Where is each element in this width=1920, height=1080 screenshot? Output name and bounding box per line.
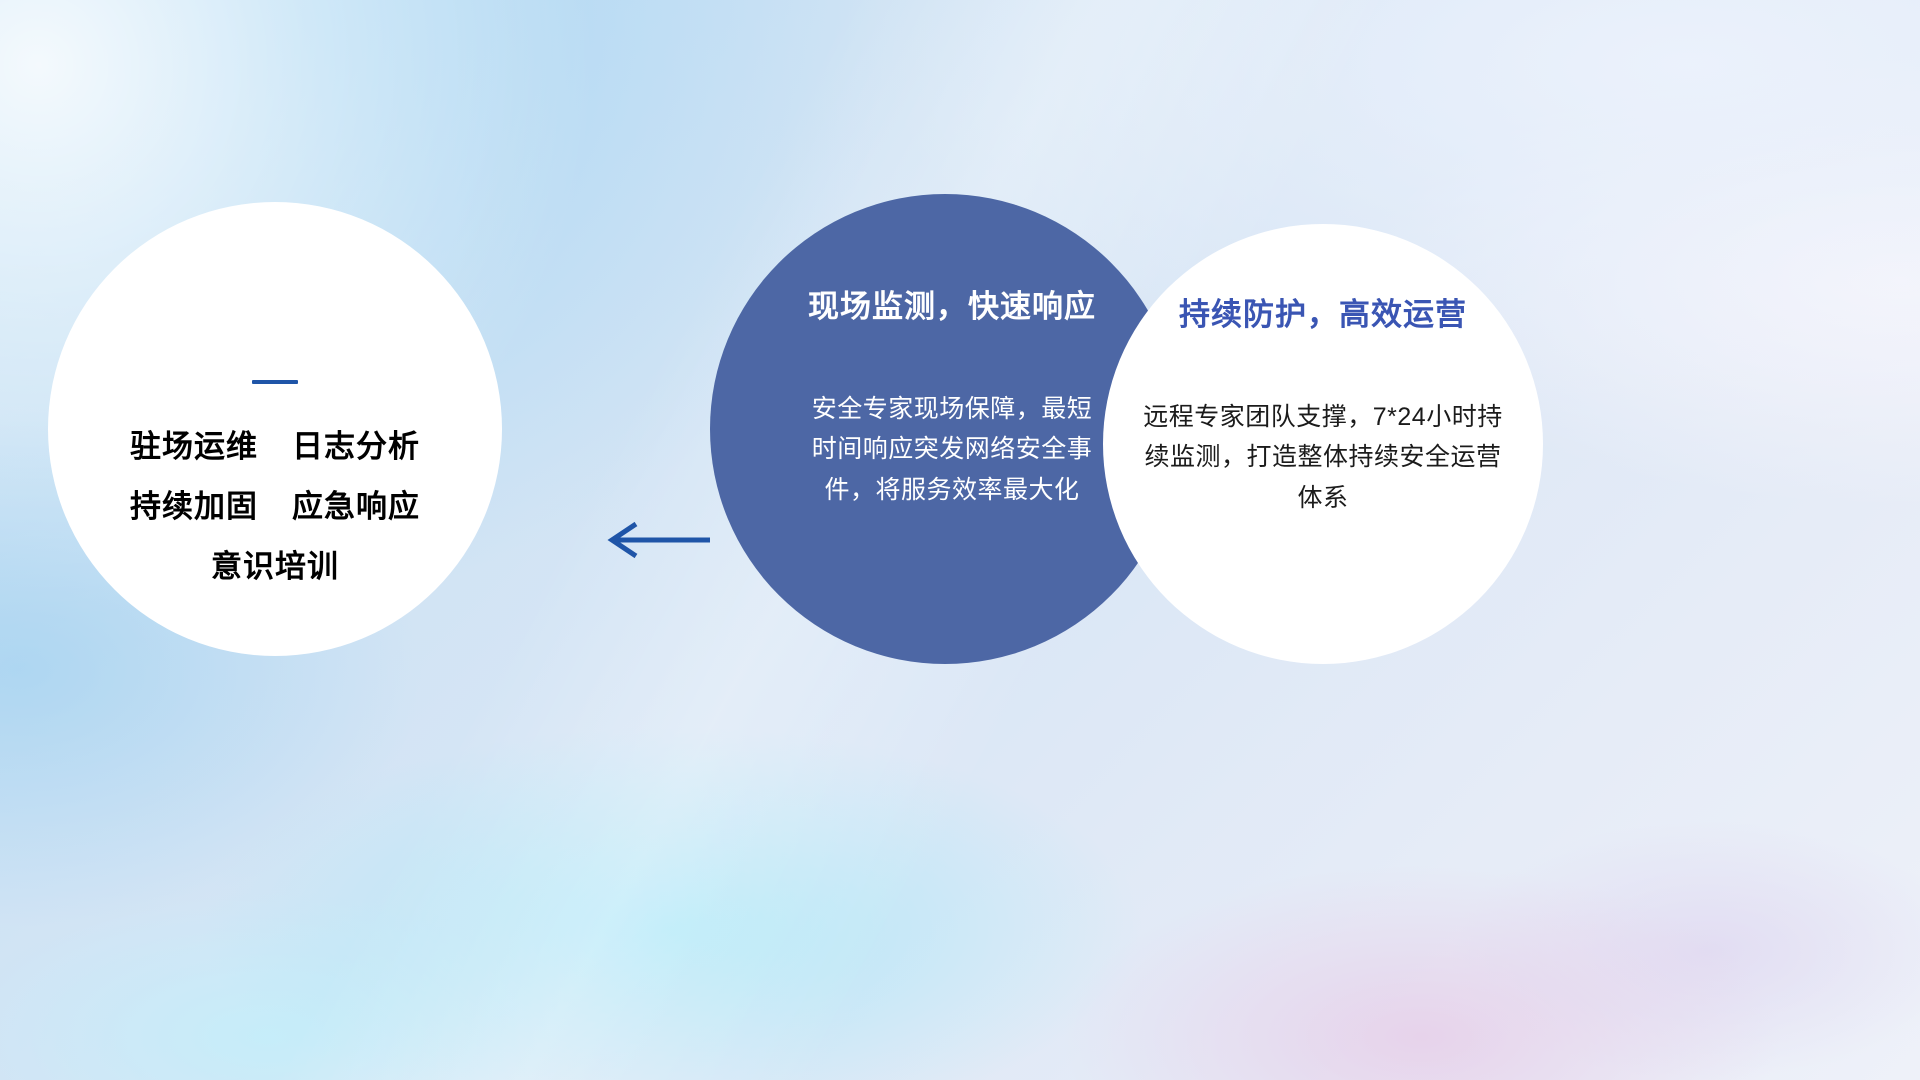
onsite-monitoring-title: 现场监测，快速响应 [766, 288, 1138, 327]
continuous-protection-content: 持续防护，高效运营 远程专家团队支撑，7*24小时持续监测，打造整体持续安全运营… [1103, 296, 1543, 518]
capability-keyword: 持续加固 [130, 490, 258, 524]
capability-content: 驻场运维 日志分析 持续加固 应急响应 意识培训 [48, 380, 502, 584]
capability-row-2: 持续加固 应急响应 [76, 490, 474, 524]
continuous-protection-title: 持续防护，高效运营 [1121, 296, 1525, 335]
onsite-monitoring-content: 现场监测，快速响应 安全专家现场保障，最短时间响应突发网络安全事件，将服务效率最… [766, 288, 1138, 510]
flow-arrow-left [600, 516, 710, 564]
capability-keyword: 日志分析 [292, 430, 420, 464]
continuous-protection-body: 远程专家团队支撑，7*24小时持续监测，打造整体持续安全运营体系 [1121, 397, 1525, 519]
divider-dash-icon [252, 380, 298, 384]
capability-row-1: 驻场运维 日志分析 [76, 430, 474, 464]
capability-row-3: 意识培训 [76, 550, 474, 584]
capability-keyword: 意识培训 [211, 550, 339, 584]
capability-keyword: 应急响应 [292, 490, 420, 524]
onsite-monitoring-body: 安全专家现场保障，最短时间响应突发网络安全事件，将服务效率最大化 [802, 389, 1102, 511]
capability-keyword: 驻场运维 [130, 430, 258, 464]
slide-canvas: 现场监测，快速响应 安全专家现场保障，最短时间响应突发网络安全事件，将服务效率最… [0, 0, 1920, 1080]
capability-circle[interactable]: 驻场运维 日志分析 持续加固 应急响应 意识培训 [48, 202, 502, 656]
continuous-protection-circle[interactable]: 持续防护，高效运营 远程专家团队支撑，7*24小时持续监测，打造整体持续安全运营… [1103, 224, 1543, 664]
